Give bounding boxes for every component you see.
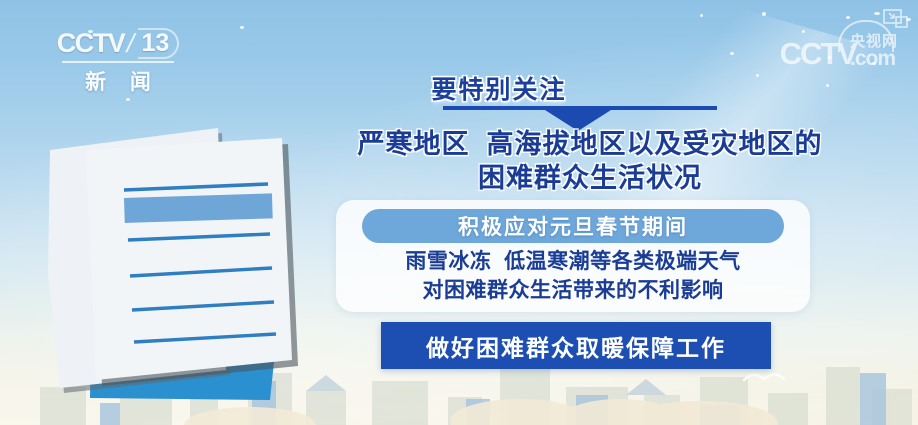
broadcast-frame: CCTV / 13 新 闻 CCTV 央视网 .com [0, 0, 918, 425]
info-card: 积极应对元旦春节期间 雨雪冰冻 低温寒潮等各类极端天气 对困难群众生活带来的不利… [336, 200, 810, 312]
cctv-channel-number: 13 [138, 28, 179, 59]
info-card-body-line-2: 对困难群众生活带来的不利影响 [336, 276, 810, 305]
kicker-label: 要特别关注 [431, 70, 566, 106]
watermark-com-text: .com [850, 49, 895, 69]
cctv-com-watermark: CCTV 央视网 .com [780, 34, 898, 69]
cctv-wordmark: CCTV [57, 28, 125, 59]
info-card-pill: 积极应对元旦春节期间 [362, 209, 784, 243]
sparkle-icon [874, 12, 880, 15]
sparkle-icon [240, 26, 244, 29]
action-bar-label: 做好困难群众取暖保障工作 [426, 329, 726, 363]
sparkle-icon [802, 30, 805, 33]
sparkle-icon [762, 12, 766, 16]
cctv-logo-slash: / [124, 28, 138, 59]
bird-icon [742, 368, 786, 388]
kicker-block: 要特别关注 [0, 70, 918, 106]
sparkle-icon [700, 14, 703, 17]
action-bar: 做好困难群众取暖保障工作 [381, 322, 771, 369]
cctv13-logo-row: CCTV / 13 [48, 28, 188, 59]
info-card-body-line-1: 雨雪冰冻 低温寒潮等各类极端天气 [336, 247, 810, 276]
stacked-documents-illustration [30, 110, 350, 410]
headline-line-2: 困难群众生活状况 [310, 161, 870, 195]
document-highlight-band [124, 193, 273, 223]
picture-in-picture-icon[interactable] [883, 9, 909, 29]
headline-line-1: 严寒地区 高海拔地区以及受灾地区的 [310, 127, 870, 161]
sparkle-icon [730, 52, 734, 55]
headline: 严寒地区 高海拔地区以及受灾地区的 困难群众生活状况 [310, 127, 870, 195]
watermark-inner: CCTV 央视网 .com [780, 34, 898, 69]
document-front-sheet [86, 138, 292, 380]
info-card-body: 雨雪冰冻 低温寒潮等各类极端天气 对困难群众生活带来的不利影响 [336, 247, 810, 305]
cctv-logo-underline [62, 61, 174, 63]
info-card-pill-label: 积极应对元旦春节期间 [458, 211, 688, 241]
sparkle-icon [846, 16, 850, 19]
